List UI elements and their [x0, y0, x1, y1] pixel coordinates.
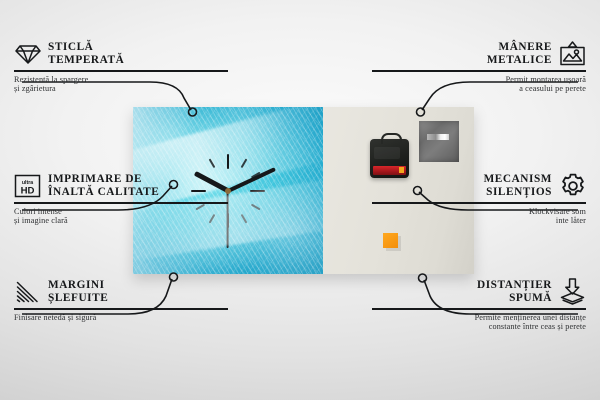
hanging-picture-frame-icon: [559, 40, 586, 67]
feature-foam-spacer: DISTANȚIER SPUMĂ Permite menținerea unei…: [372, 278, 586, 332]
divider: [14, 202, 228, 204]
divider: [372, 70, 586, 72]
feature-subtitle: Permit montarea ușoară a ceasului pe per…: [372, 75, 586, 94]
svg-text:HD: HD: [21, 185, 35, 196]
polished-edges-icon: [14, 278, 41, 305]
feature-silent-mechanism: MECANISM SILENȚIOS Klockvisare som inte …: [372, 172, 586, 226]
gear-icon: [559, 172, 586, 199]
feature-title: MÂNERE METALICE: [487, 41, 552, 66]
diamond-icon: [14, 40, 41, 67]
feature-polished-edges: MARGINI ȘLEFUITE Finisare netedă și sigu…: [14, 278, 228, 322]
feature-tempered-glass: STICLĂ TEMPERATĂ Rezistentă la spargere …: [14, 40, 228, 94]
feature-title: MECANISM SILENȚIOS: [484, 173, 552, 198]
feature-title: DISTANȚIER SPUMĂ: [477, 279, 552, 304]
divider: [14, 70, 228, 72]
feature-subtitle: Finisare netedă și sigură: [14, 313, 228, 323]
feature-subtitle: Permite menținerea unei distanțe constan…: [372, 313, 586, 332]
arrow-press-layers-icon: [559, 278, 586, 305]
ultra-hd-badge-icon: ultra HD: [14, 172, 41, 199]
feature-subtitle: Klockvisare som inte låter: [372, 207, 586, 226]
feature-title: MARGINI ȘLEFUITE: [48, 279, 108, 304]
divider: [14, 308, 228, 310]
feature-title: IMPRIMARE DE ÎNALTĂ CALITATE: [48, 173, 159, 198]
feature-title: STICLĂ TEMPERATĂ: [48, 41, 124, 66]
foam-spacer: [383, 233, 398, 248]
feature-high-quality-print: ultra HD IMPRIMARE DE ÎNALTĂ CALITATE Cu…: [14, 172, 228, 226]
feature-metal-hangers: MÂNERE METALICE Permit montarea ușoară a…: [372, 40, 586, 94]
infographic-canvas: STICLĂ TEMPERATĂ Rezistentă la spargere …: [0, 0, 600, 400]
feature-subtitle: Rezistentă la spargere și zgârietura: [14, 75, 228, 94]
divider: [372, 202, 586, 204]
divider: [372, 308, 586, 310]
metal-hanger-plate: [419, 121, 459, 162]
feature-subtitle: Culori intense și imagine clară: [14, 207, 228, 226]
